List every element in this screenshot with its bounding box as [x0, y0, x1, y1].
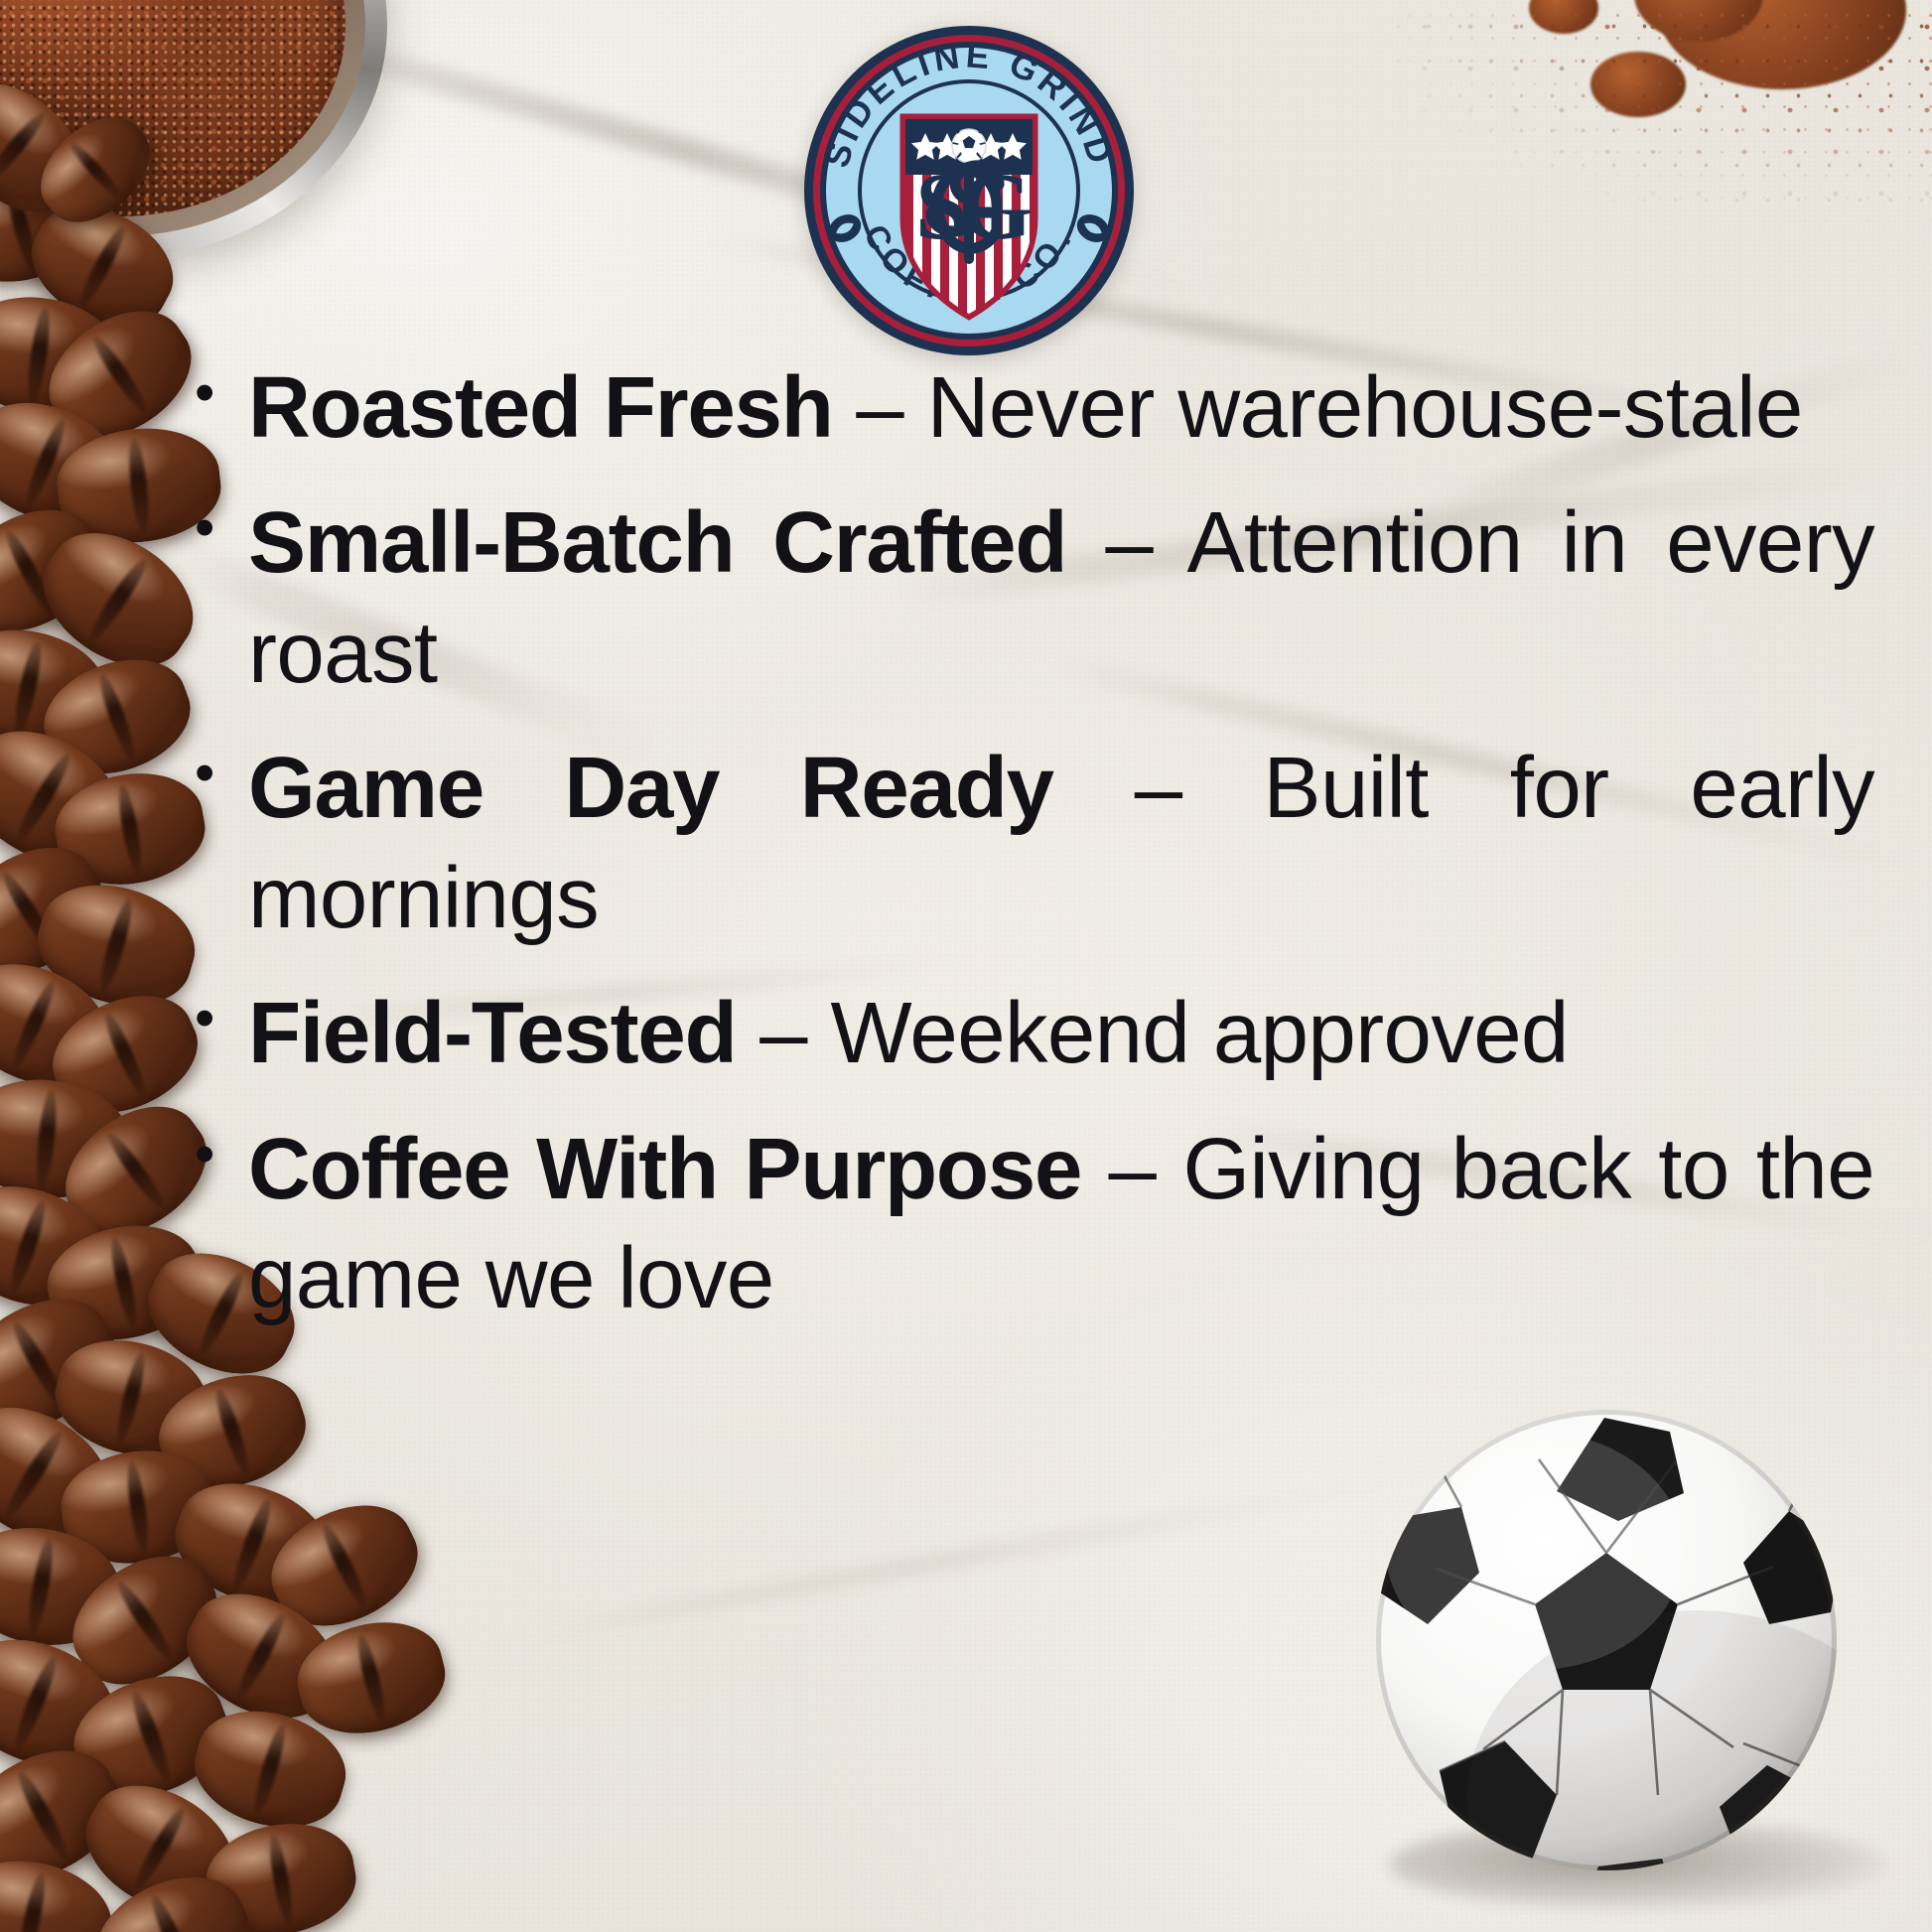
bullet-dash: –: [1066, 494, 1186, 591]
list-item: • Game Day Ready – Built for early morni…: [195, 734, 1874, 953]
bullet-marker: •: [195, 734, 248, 773]
bullet-marker: •: [195, 979, 248, 1019]
bullet-text: Field-Tested – Weekend approved: [248, 979, 1874, 1088]
social-graphic-canvas: SIDELINE GRIND COFFEE CO.: [0, 0, 1932, 1932]
bullet-dash: –: [833, 359, 927, 456]
bullet-lead: Field-Tested: [248, 985, 737, 1081]
bullet-dash: –: [1081, 1121, 1182, 1217]
bullet-marker: •: [195, 488, 248, 528]
bullet-text: Roasted Fresh – Never warehouse-stale: [248, 353, 1874, 463]
svg-text:SG: SG: [915, 153, 1031, 259]
soccer-ball-panels: [1368, 1402, 1870, 1904]
bullet-lead: Roasted Fresh: [248, 359, 833, 456]
sideline-grind-logo: SIDELINE GRIND COFFEE CO.: [802, 24, 1136, 357]
list-item: • Field-Tested – Weekend approved: [195, 979, 1874, 1088]
bullet-dash: –: [1053, 740, 1264, 836]
list-item: • Coffee With Purpose – Giving back to t…: [195, 1115, 1874, 1334]
coffee-grounds-dust: [1396, 0, 1932, 288]
list-item: • Small-Batch Crafted – Attention in eve…: [195, 488, 1874, 708]
bullet-rest: Weekend approved: [830, 985, 1568, 1081]
soccer-ball-image: [1368, 1402, 1870, 1904]
bullet-lead: Game Day Ready: [248, 740, 1053, 836]
marble-vein: [521, 1471, 1404, 1644]
bullet-rest: Never warehouse-stale: [927, 359, 1803, 456]
list-item: • Roasted Fresh – Never warehouse-stale: [195, 353, 1874, 463]
logo-monogram-letters: SG: [915, 153, 1031, 259]
bullet-text: Coffee With Purpose – Giving back to the…: [248, 1115, 1874, 1334]
bullet-text: Small-Batch Crafted – Attention in every…: [248, 488, 1874, 708]
bullet-lead: Small-Batch Crafted: [248, 494, 1066, 591]
bullet-lead: Coffee With Purpose: [248, 1121, 1081, 1217]
bullet-marker: •: [195, 353, 248, 393]
bullet-text: Game Day Ready – Built for early morning…: [248, 734, 1874, 953]
feature-bullet-list: • Roasted Fresh – Never warehouse-stale …: [195, 353, 1874, 1360]
bullet-dash: –: [737, 985, 831, 1081]
bullet-marker: •: [195, 1115, 248, 1155]
scattered-coffee-grounds-image: [1396, 0, 1932, 288]
